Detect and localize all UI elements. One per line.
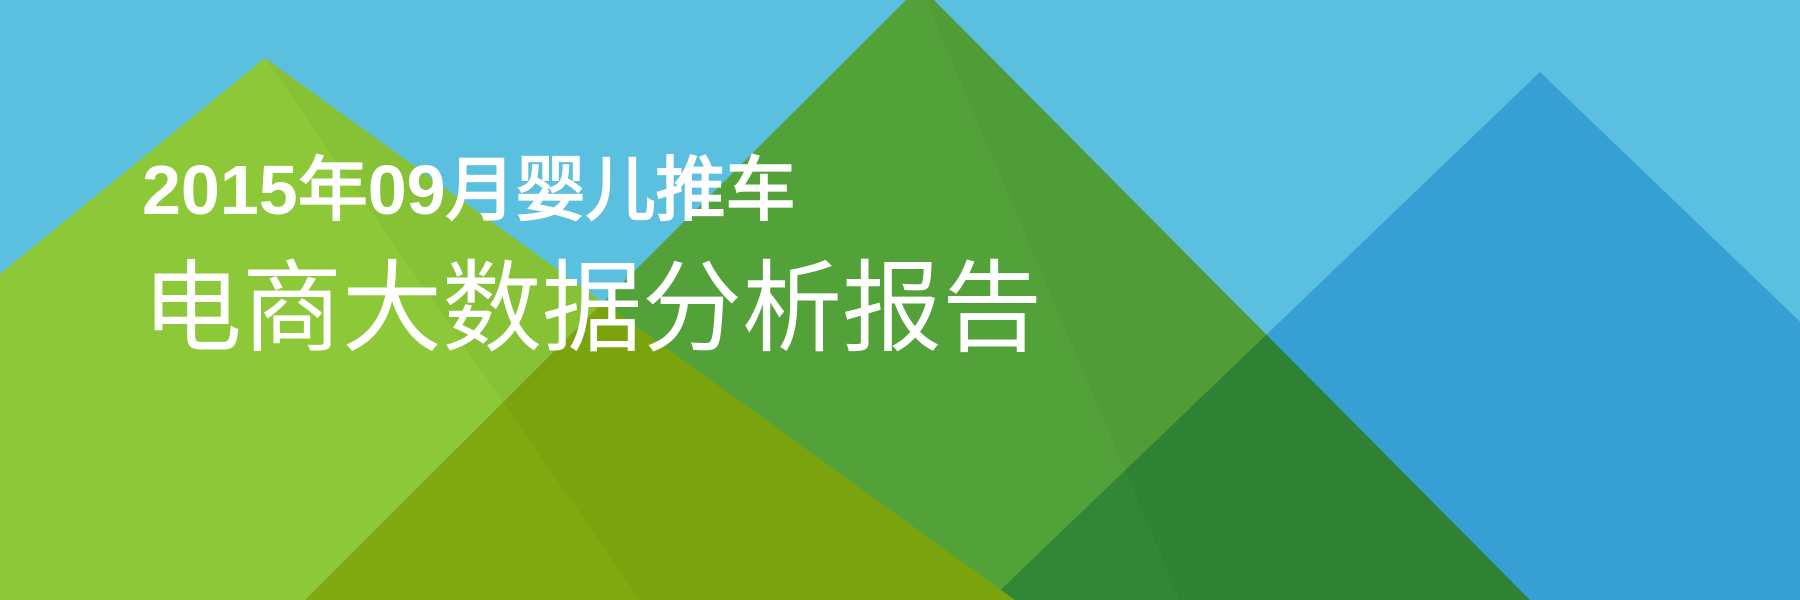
report-cover-banner: 2015年09月婴儿推车 电商大数据分析报告 — [0, 0, 1800, 600]
background-geometric-artwork — [0, 0, 1800, 600]
